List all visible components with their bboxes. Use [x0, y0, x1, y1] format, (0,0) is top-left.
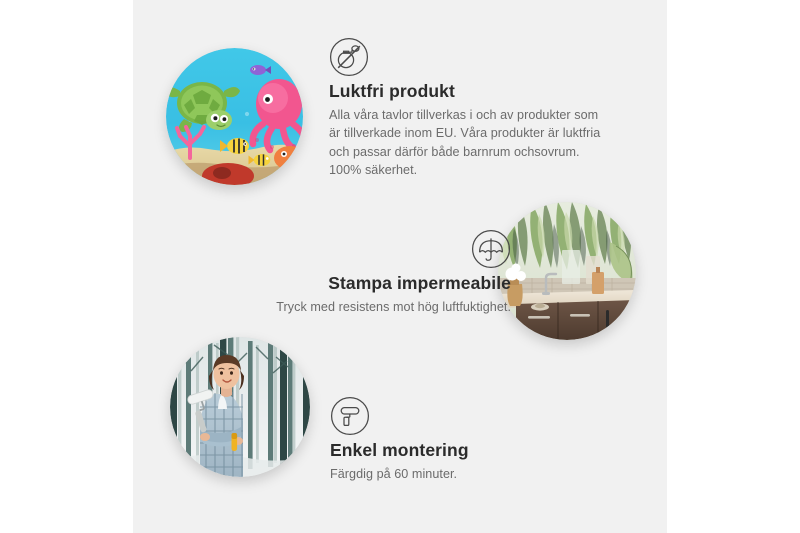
promo-graphic: Luktfri produkt Alla våra tavlor tillver…: [0, 0, 800, 533]
feature-image-waterproof: [498, 202, 636, 340]
feature-title: Luktfri produkt: [329, 81, 619, 103]
forest-mural-illustration: [170, 337, 310, 477]
feature-description: Tryck med resistens mot hög luftfuktighe…: [215, 298, 511, 317]
feature-assembly: Enkel montering Färgdig på 60 minuter.: [330, 396, 610, 483]
underwater-cartoon-scene: [166, 48, 303, 185]
content-panel: Luktfri produkt Alla våra tavlor tillver…: [133, 0, 667, 533]
feature-title: Stampa impermeabile: [215, 273, 511, 295]
feature-waterproof: Stampa impermeabile Tryck med resistens …: [215, 229, 511, 316]
feature-image-odorless: [166, 48, 303, 185]
feature-title: Enkel montering: [330, 440, 610, 462]
feature-description: Alla våra tavlor tillverkas i och av pro…: [329, 106, 607, 180]
bathroom-tropical-wallpaper: [498, 202, 636, 340]
feature-description: Färgdig på 60 minuter.: [330, 465, 610, 484]
umbrella-icon: [471, 229, 511, 269]
underwater-illustration: [166, 48, 303, 185]
paint-roller-icon: [330, 396, 370, 436]
feature-odorless: Luktfri produkt Alla våra tavlor tillver…: [329, 37, 619, 180]
no-odor-perfume-bottle-icon: [329, 37, 369, 77]
bathroom-illustration: [498, 202, 636, 340]
feature-image-assembly: [170, 337, 310, 477]
woman-with-paint-roller-forest-mural: [170, 337, 310, 477]
